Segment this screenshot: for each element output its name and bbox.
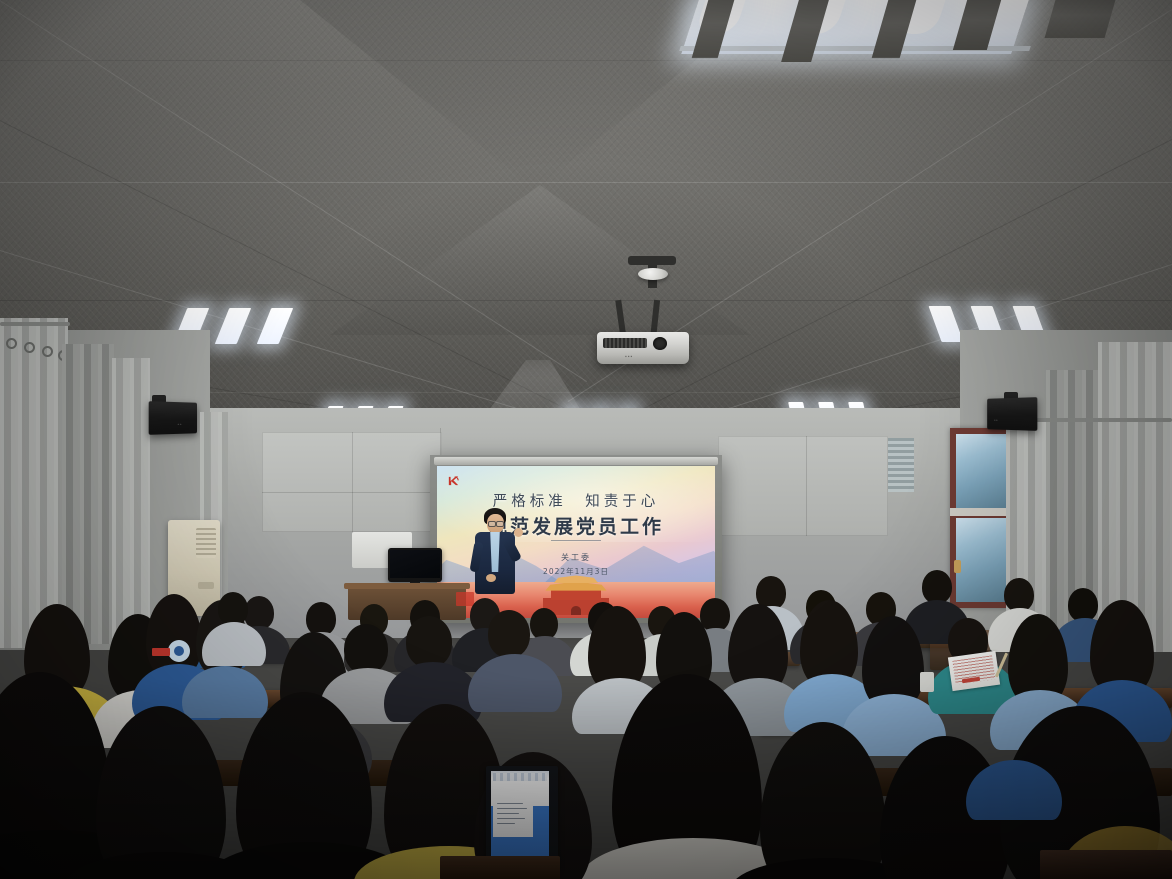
projector-mount-bracket: [628, 256, 676, 265]
jacket-red-tag: [152, 648, 170, 656]
audience-head: [218, 592, 248, 626]
audience-head: [406, 616, 452, 668]
lecture-hall-photo: ▪▪▪: [0, 0, 1172, 879]
wall-seam: [352, 432, 353, 532]
window-handle: [954, 560, 961, 573]
curtain-left-inner: [62, 344, 114, 644]
presenter-glasses: [488, 521, 496, 527]
presenter-hand-resting: [486, 574, 496, 582]
audience-head: [922, 570, 952, 604]
ceiling-grid-line: [0, 182, 1172, 183]
screen-roller: [434, 457, 718, 465]
smoke-detector: [638, 268, 668, 280]
wall-seam: [262, 492, 442, 493]
audience-head: [700, 598, 730, 632]
desk-cup: [920, 672, 934, 692]
tiananmen-arch: [571, 606, 581, 615]
laptop-toolbar: [493, 773, 547, 781]
presenter-hand: [514, 528, 523, 537]
desk-paper-document: [948, 651, 1000, 691]
curtain-left-third: [112, 358, 150, 638]
audience-head: [488, 610, 530, 658]
audience-head: [1004, 578, 1034, 612]
tiananmen-body: [551, 589, 601, 600]
laptop-display[interactable]: [491, 771, 549, 863]
podium-monitor: [388, 548, 442, 582]
audience-head: [306, 602, 336, 636]
ceiling-projector: ▪▪▪: [597, 332, 689, 364]
audience-laptop[interactable]: [486, 766, 558, 870]
curtain-rod-left: [0, 322, 70, 326]
laptop-document-page: [493, 783, 533, 837]
podium-desk-top: [344, 583, 470, 589]
slide-divider: [551, 540, 601, 541]
wall-panel: [718, 436, 888, 536]
jacket-logo-inner: [174, 646, 184, 656]
window-glass: [956, 518, 1006, 602]
wall-vent: [888, 438, 914, 492]
curtain-ring: [6, 338, 17, 349]
audience-head: [344, 624, 388, 674]
ceiling-drape: [1045, 0, 1116, 38]
window-glass: [956, 434, 1006, 510]
wall-speaker-right: ◦◦: [987, 397, 1037, 431]
window-mullion: [950, 508, 1012, 516]
bench-foreground: [1040, 850, 1172, 879]
presenter-glasses: [496, 521, 504, 527]
wall-speaker-left: ◦◦: [149, 401, 197, 435]
cpc-party-emblem-icon: [446, 474, 461, 488]
bench-foreground: [440, 856, 560, 879]
audience-head: [1068, 588, 1098, 622]
curtain-ring: [42, 346, 53, 357]
wall-seam: [806, 436, 807, 536]
curtain-ring: [24, 342, 35, 353]
curtain-left-outer: [0, 318, 68, 648]
